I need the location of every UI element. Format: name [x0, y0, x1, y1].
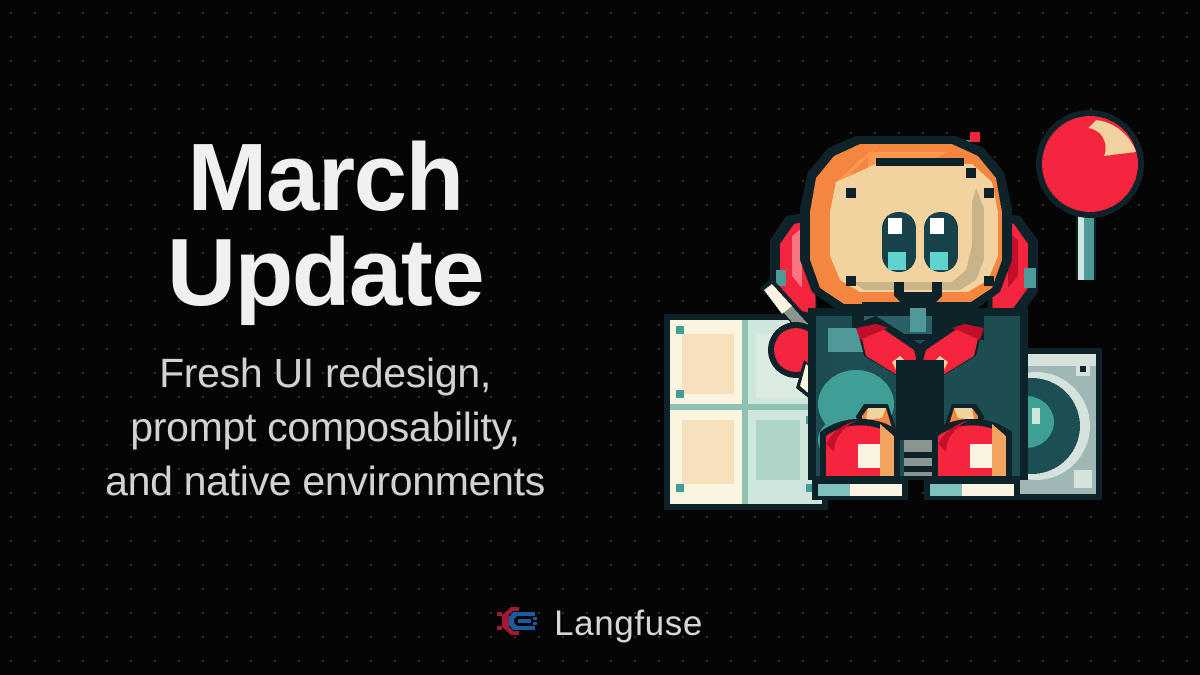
subtitle: Fresh UI redesign, prompt composability,… — [20, 346, 630, 508]
text-column: March Update Fresh UI redesign, prompt c… — [20, 130, 630, 508]
subtitle-line-3: and native environments — [20, 454, 630, 508]
brand-footer: Langfuse — [0, 604, 1200, 643]
langfuse-logo-icon — [497, 604, 539, 643]
subtitle-line-1: Fresh UI redesign, — [20, 346, 630, 400]
balloon-and-stick — [1036, 110, 1144, 280]
subtitle-line-2: prompt composability, — [20, 400, 630, 454]
pixel-art-robot-illustration — [620, 100, 1180, 520]
brand-wordmark: Langfuse — [554, 606, 703, 641]
robot-head — [800, 136, 1012, 312]
headline-line-1: March — [20, 130, 630, 225]
page-title: March Update — [20, 130, 630, 320]
headline-line-2: Update — [20, 225, 630, 320]
promo-banner: March Update Fresh UI redesign, prompt c… — [0, 0, 1200, 675]
